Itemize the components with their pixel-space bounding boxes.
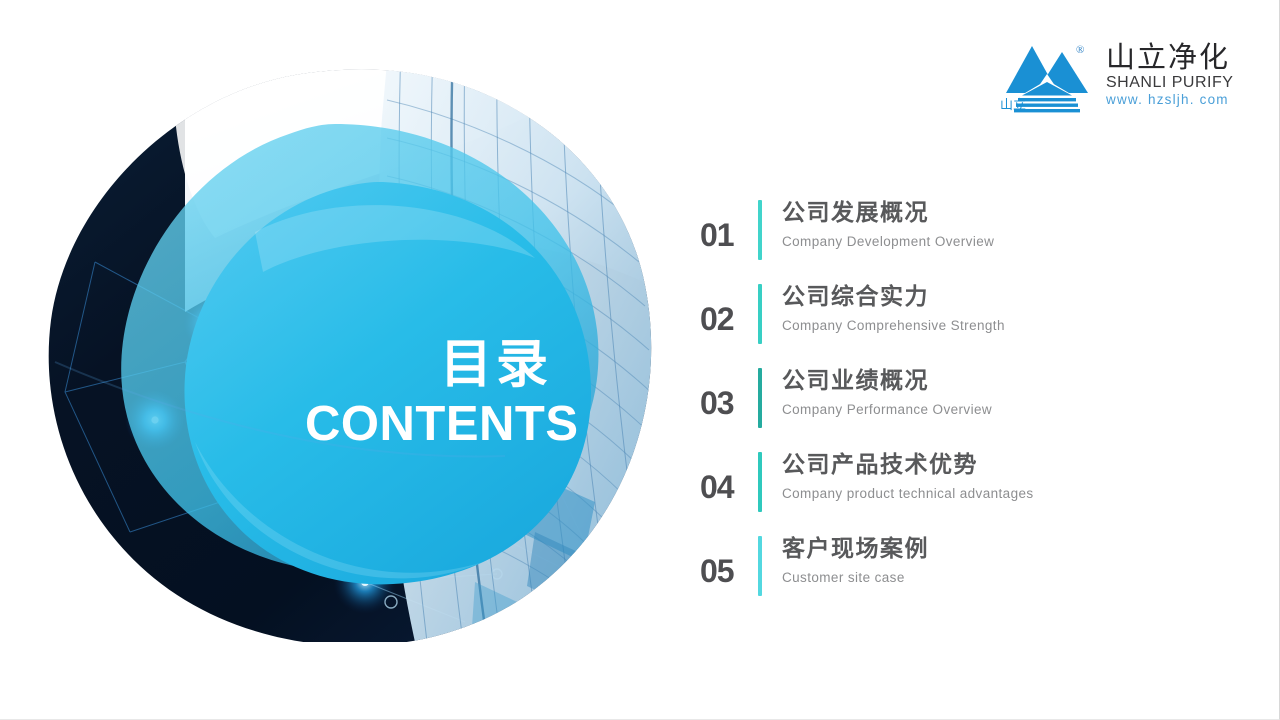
contents-title-cn: 公司综合实力 <box>782 282 1005 312</box>
logo-company-name-cn: 山立净化 <box>1106 42 1233 74</box>
contents-title-cn: 公司产品技术优势 <box>782 450 1034 480</box>
contents-text-block: 公司综合实力 Company Comprehensive Strength <box>762 280 1005 337</box>
contents-text-block: 公司业绩概况 Company Performance Overview <box>762 364 992 421</box>
contents-number: 03 <box>700 364 758 419</box>
svg-text:山立: 山立 <box>1000 97 1026 112</box>
abstract-blob-collage-icon <box>35 62 665 642</box>
contents-title-en: Company product technical advantages <box>782 483 1034 505</box>
contents-number: 05 <box>700 532 758 587</box>
shanli-mountain-mark-icon: 山立 ® <box>1000 38 1100 116</box>
contents-title-en: Company Development Overview <box>782 231 994 253</box>
contents-number: 01 <box>700 196 758 251</box>
contents-item-04[interactable]: 04 公司产品技术优势 Company product technical ad… <box>700 448 1260 532</box>
contents-title-en: Customer site case <box>782 567 929 589</box>
company-logo: 山立 ® 山立净化 SHANLI PURIFY www. hzsljh. com <box>1000 38 1225 116</box>
contents-list: 01 公司发展概况 Company Development Overview 0… <box>700 196 1260 616</box>
presentation-slide: 山立 ® 山立净化 SHANLI PURIFY www. hzsljh. com <box>0 0 1280 720</box>
logo-text-block: 山立净化 SHANLI PURIFY www. hzsljh. com <box>1100 38 1233 108</box>
contents-title-cn: 公司业绩概况 <box>782 366 992 396</box>
contents-item-05[interactable]: 05 客户现场案例 Customer site case <box>700 532 1260 616</box>
contents-item-02[interactable]: 02 公司综合实力 Company Comprehensive Strength <box>700 280 1260 364</box>
contents-number: 04 <box>700 448 758 503</box>
contents-text-block: 公司发展概况 Company Development Overview <box>762 196 994 253</box>
contents-item-01[interactable]: 01 公司发展概况 Company Development Overview <box>700 196 1260 280</box>
contents-item-03[interactable]: 03 公司业绩概况 Company Performance Overview <box>700 364 1260 448</box>
contents-text-block: 公司产品技术优势 Company product technical advan… <box>762 448 1034 505</box>
contents-text-block: 客户现场案例 Customer site case <box>762 532 929 589</box>
contents-title-en: Company Comprehensive Strength <box>782 315 1005 337</box>
contents-title-cn: 公司发展概况 <box>782 198 994 228</box>
registered-trademark-icon: ® <box>1076 44 1084 56</box>
contents-title-en: Company Performance Overview <box>782 399 992 421</box>
logo-website-url: www. hzsljh. com <box>1106 92 1233 108</box>
hero-graphic: 目录 CONTENTS <box>35 62 665 642</box>
contents-title-cn: 客户现场案例 <box>782 534 929 564</box>
logo-company-name-en: SHANLI PURIFY <box>1106 74 1233 92</box>
contents-number: 02 <box>700 280 758 335</box>
